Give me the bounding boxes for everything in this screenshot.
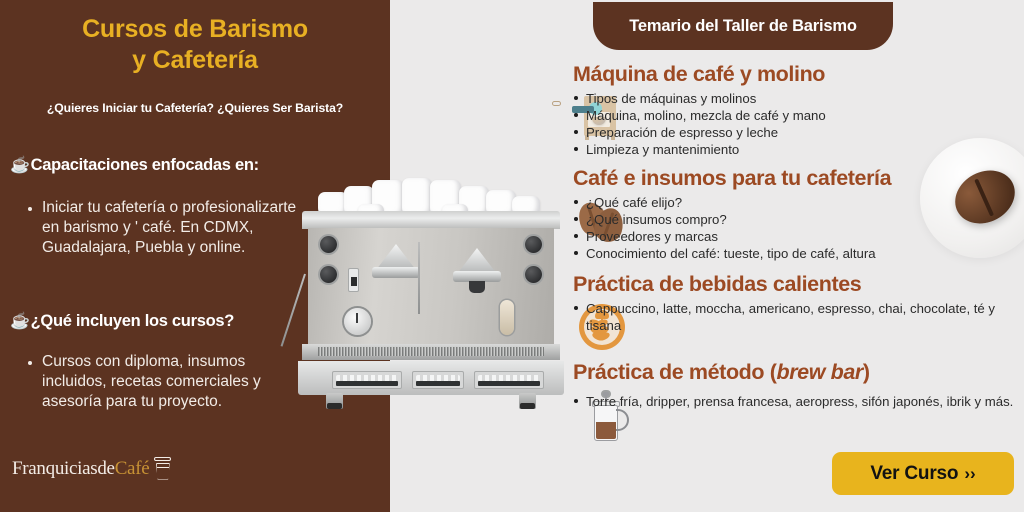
page-title-line1: Cursos de Barismo: [82, 15, 308, 43]
list-item: Iniciar tu cafetería o profesionalizarte…: [42, 198, 312, 258]
ver-curso-button[interactable]: Ver Curso ››: [832, 452, 1014, 495]
infographic-page: Cursos de Barismo y Cafetería ¿Quieres I…: [0, 0, 1024, 512]
brand-logo[interactable]: FranquiciasdeCafé: [12, 457, 171, 480]
left-section1-heading: ☕ Capacitaciones enfocadas en:: [0, 156, 259, 175]
double-chevron-right-icon: ››: [964, 464, 975, 484]
page-subtitle: ¿Quieres Iniciar tu Cafetería? ¿Quieres …: [10, 101, 380, 115]
list-item: Preparación de espresso y leche: [573, 124, 826, 141]
syllabus-section-1-list: Tipos de máquinas y molinos Máquina, mol…: [573, 90, 826, 159]
left-section2-heading-label: ¿Qué incluyen los cursos?: [31, 312, 234, 331]
list-item: Torre fría, dripper, prensa francesa, ae…: [573, 393, 1013, 410]
coffee-cup-icon: ☕: [10, 158, 30, 174]
brand-logo-text-accent: Café: [115, 458, 150, 479]
espresso-machine-photo: [296, 178, 566, 448]
machine-body: [296, 211, 566, 411]
page-title-line2: y Cafetería: [14, 45, 376, 76]
list-item: Limpieza y mantenimiento: [573, 141, 826, 158]
syllabus-section-4-title-italic: brew bar: [776, 360, 862, 384]
left-section1-list: Iniciar tu cafetería o profesionalizarte…: [22, 198, 312, 258]
syllabus-section-4-title-plain: Práctica de método (: [573, 360, 776, 384]
page-title: Cursos de Barismo y Cafetería: [14, 14, 376, 75]
list-item: ¿Qué insumos compro?: [573, 211, 876, 228]
syllabus-section-1: Máquina de café y molino Tipos de máquin…: [390, 62, 1024, 159]
list-item: Proveedores y marcas: [573, 228, 876, 245]
syllabus-section-3-list: Cappuccino, latte, moccha, americano, es…: [573, 300, 1024, 334]
title-block: Cursos de Barismo y Cafetería ¿Quieres I…: [0, 0, 390, 115]
list-item: Máquina, molino, mezcla de café y mano: [573, 107, 826, 124]
brand-logo-text-main: Franquiciasde: [12, 458, 115, 479]
list-item: Cursos con diploma, insumos incluidos, r…: [42, 352, 312, 412]
syllabus-title: Temario del Taller de Barismo: [629, 17, 856, 36]
brand-logo-text: FranquiciasdeCafé: [12, 458, 149, 480]
list-item: ¿Qué café elijo?: [573, 194, 876, 211]
left-section2-heading: ☕ ¿Qué incluyen los cursos?: [0, 312, 234, 331]
list-item: Cappuccino, latte, moccha, americano, es…: [573, 300, 1024, 334]
syllabus-section-4-title-tail: ): [863, 360, 870, 384]
syllabus-title-pill: Temario del Taller de Barismo: [593, 2, 893, 50]
ver-curso-button-label: Ver Curso: [870, 463, 958, 485]
left-section2-list: Cursos con diploma, insumos incluidos, r…: [22, 352, 312, 412]
syllabus-section-4-list: Torre fría, dripper, prensa francesa, ae…: [573, 393, 1013, 410]
syllabus-section-1-title: Máquina de café y molino: [390, 62, 1024, 87]
coffee-cup-icon: ☕: [10, 314, 30, 330]
left-section1-heading-label: Capacitaciones enfocadas en:: [31, 156, 259, 175]
list-item: Tipos de máquinas y molinos: [573, 90, 826, 107]
syllabus-section-2-list: ¿Qué café elijo? ¿Qué insumos compro? Pr…: [573, 194, 876, 263]
list-item: Conocimiento del café: tueste, tipo de c…: [573, 245, 876, 262]
to-go-cup-icon: [154, 457, 171, 480]
